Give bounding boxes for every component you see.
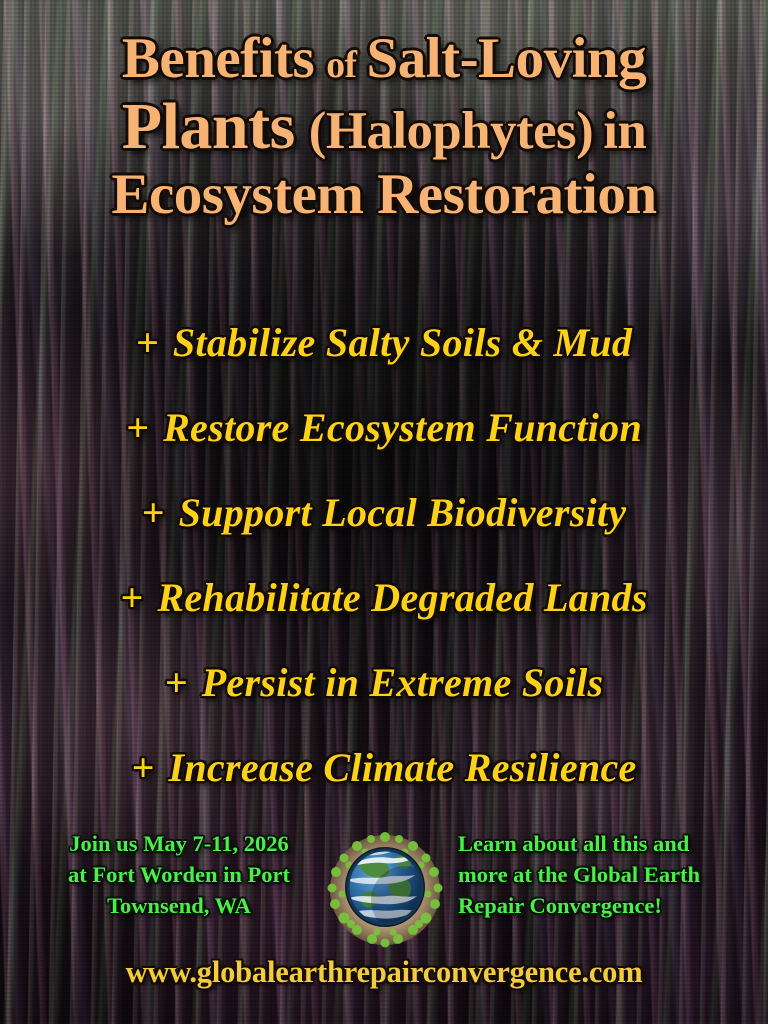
benefit-item-5: +Persist in Extreme Soils xyxy=(0,640,768,725)
title-word-plants: Plants xyxy=(122,90,295,163)
website-url-bar: www.globalearthrepairconvergence.com xyxy=(0,957,768,988)
bullet-plus-icon-4: + xyxy=(120,575,143,620)
bullet-plus-icon-2: + xyxy=(126,405,149,450)
benefit-text-4: Rehabilitate Degraded Lands xyxy=(157,575,647,620)
bullet-plus-icon-6: + xyxy=(131,745,154,790)
bullet-plus-icon-5: + xyxy=(165,660,188,705)
benefit-label-1: +Stabilize Salty Soils & Mud xyxy=(136,323,632,363)
cta-line-3: Repair Convergence! xyxy=(458,890,748,921)
website-url[interactable]: www.globalearthrepairconvergence.com xyxy=(126,955,643,989)
title-word-salt-loving: Salt-Loving xyxy=(367,27,647,90)
benefit-item-6: +Increase Climate Resilience xyxy=(0,725,768,810)
benefit-label-3: +Support Local Biodiversity xyxy=(142,493,627,533)
page-title: BenefitsofSalt-Loving Plants(Halophytes)… xyxy=(0,30,768,223)
bullet-plus-icon-1: + xyxy=(136,320,159,365)
poster-canvas: BenefitsofSalt-Loving Plants(Halophytes)… xyxy=(0,0,768,1024)
bullet-plus-icon-3: + xyxy=(142,490,165,535)
benefit-item-1: +Stabilize Salty Soils & Mud xyxy=(0,300,768,385)
benefit-label-2: +Restore Ecosystem Function xyxy=(126,408,642,448)
benefit-label-6: +Increase Climate Resilience xyxy=(131,748,636,788)
benefit-text-5: Persist in Extreme Soils xyxy=(202,660,604,705)
title-word-halophytes: (Halophytes) xyxy=(309,102,593,160)
event-city-line: Townsend, WA xyxy=(34,890,324,921)
title-word-benefits: Benefits xyxy=(122,27,314,90)
title-line-2: Plants(Halophytes)in xyxy=(0,94,768,160)
title-word-of: of xyxy=(326,44,356,86)
call-to-action-block: Learn about all this and more at the Glo… xyxy=(458,828,768,921)
benefit-text-3: Support Local Biodiversity xyxy=(179,490,627,535)
benefit-item-2: +Restore Ecosystem Function xyxy=(0,385,768,470)
title-word-in: in xyxy=(603,102,646,160)
benefit-text-1: Stabilize Salty Soils & Mud xyxy=(173,320,632,365)
title-line-1: BenefitsofSalt-Loving xyxy=(0,30,768,87)
title-phrase-ecosystem-restoration: Ecosystem Restoration xyxy=(111,163,656,226)
cta-line-1: Learn about all this and xyxy=(458,828,748,859)
benefit-label-4: +Rehabilitate Degraded Lands xyxy=(120,578,647,618)
cta-line-2: more at the Global Earth xyxy=(458,859,748,890)
benefit-item-4: +Rehabilitate Degraded Lands xyxy=(0,555,768,640)
benefit-text-6: Increase Climate Resilience xyxy=(169,745,637,790)
benefit-item-3: +Support Local Biodiversity xyxy=(0,470,768,555)
event-details-block: Join us May 7-11, 2026 at Fort Worden in… xyxy=(0,828,324,921)
event-venue-line: at Fort Worden in Port xyxy=(34,859,324,890)
benefits-list: +Stabilize Salty Soils & Mud +Restore Ec… xyxy=(0,300,768,810)
title-line-3: Ecosystem Restoration xyxy=(0,166,768,223)
benefit-label-5: +Persist in Extreme Soils xyxy=(165,663,604,703)
earth-globe-logo xyxy=(327,832,443,948)
benefit-text-2: Restore Ecosystem Function xyxy=(163,405,642,450)
event-date-line: Join us May 7-11, 2026 xyxy=(34,828,324,859)
